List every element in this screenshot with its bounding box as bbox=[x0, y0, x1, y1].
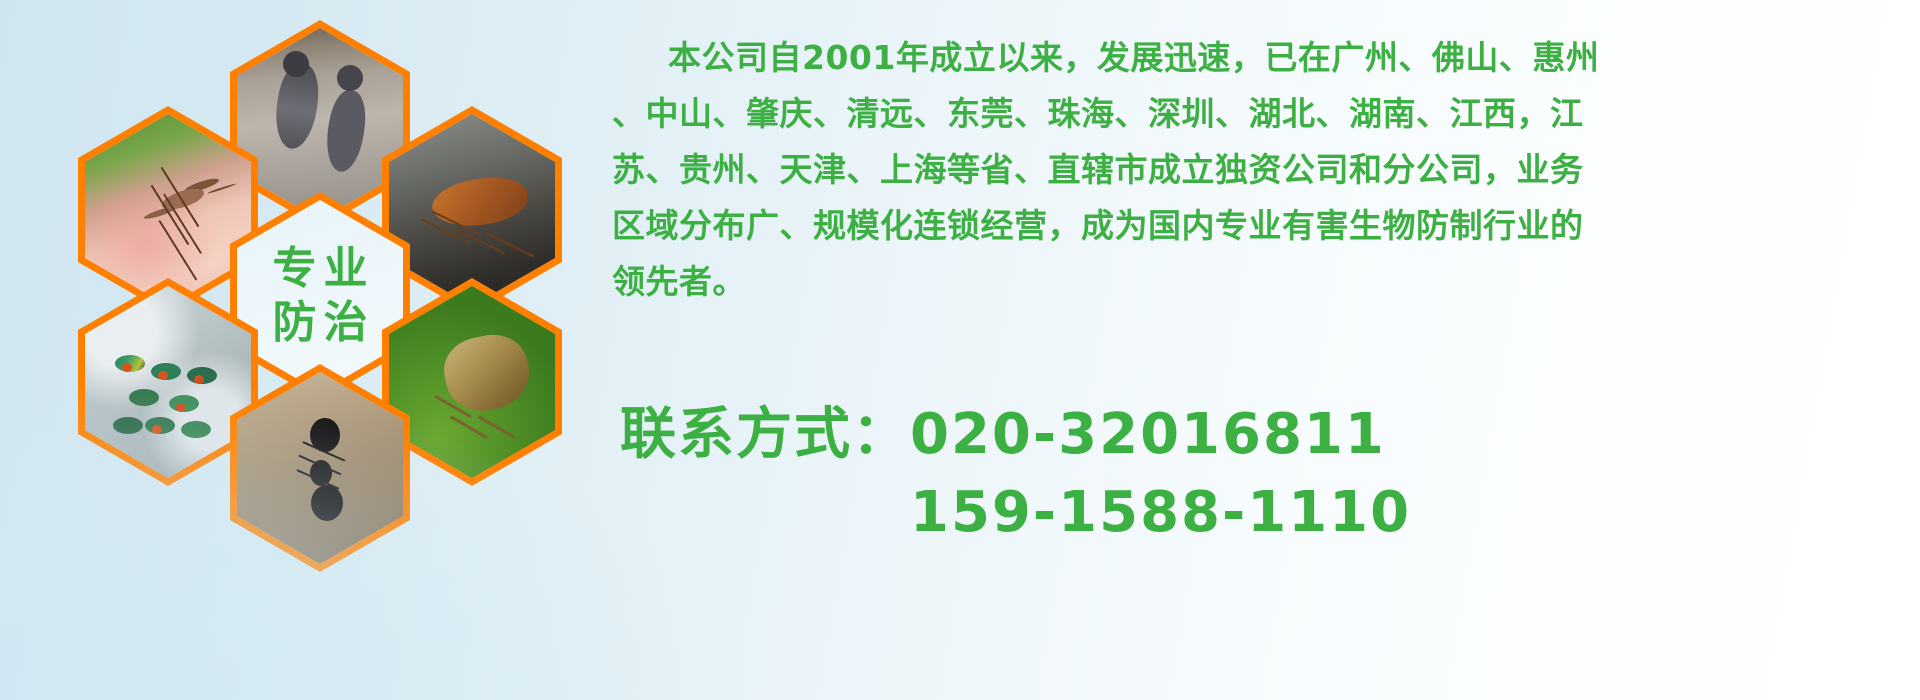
slogan-line-2: 防治 bbox=[266, 300, 375, 346]
description-line-3: 苏、贵州、天津、上海等省、直辖市成立独资公司和分公司，业务 bbox=[612, 142, 1902, 198]
description-line-1: 本公司自2001年成立以来，发展迅速，已在广州、佛山、惠州 bbox=[612, 30, 1902, 86]
cockroach-photo bbox=[389, 114, 555, 306]
rats-photo bbox=[237, 28, 403, 220]
description-line-2: 、中山、肇庆、清远、东莞、珠海、深圳、湖北、湖南、江西，江 bbox=[612, 86, 1902, 142]
stinkbug-photo bbox=[389, 286, 555, 478]
hex-inner: 专业 防治 bbox=[237, 200, 403, 392]
contact-phone-primary[interactable]: 联系方式：020-32016811 bbox=[620, 396, 1900, 474]
description-line-4: 区域分布广、规模化连锁经营，成为国内专业有害生物防制行业的 bbox=[612, 198, 1902, 254]
company-description: 本公司自2001年成立以来，发展迅速，已在广州、佛山、惠州 、中山、肇庆、清远、… bbox=[612, 30, 1902, 310]
hex-inner bbox=[237, 28, 403, 220]
hex-inner bbox=[389, 114, 555, 306]
promo-banner: 专业 防治 本公司自2001年成立以来，发展迅速，已在广州、佛山、惠州 、中山、… bbox=[0, 0, 1920, 700]
hex-inner bbox=[85, 286, 251, 478]
hex-inner bbox=[85, 114, 251, 306]
mosquito-photo bbox=[85, 114, 251, 306]
contact-phone-mobile[interactable]: 159-1588-1110 bbox=[620, 474, 1900, 552]
description-line-5: 领先者。 bbox=[612, 254, 1902, 310]
slogan-line-1: 专业 bbox=[266, 246, 375, 292]
hex-inner bbox=[237, 372, 403, 564]
contact-block: 联系方式：020-32016811 159-1588-1110 bbox=[620, 396, 1900, 552]
ant-photo bbox=[237, 372, 403, 564]
hex-inner bbox=[389, 286, 555, 478]
honeycomb-collage: 专业 防治 bbox=[78, 8, 578, 568]
flies-photo bbox=[85, 286, 251, 478]
